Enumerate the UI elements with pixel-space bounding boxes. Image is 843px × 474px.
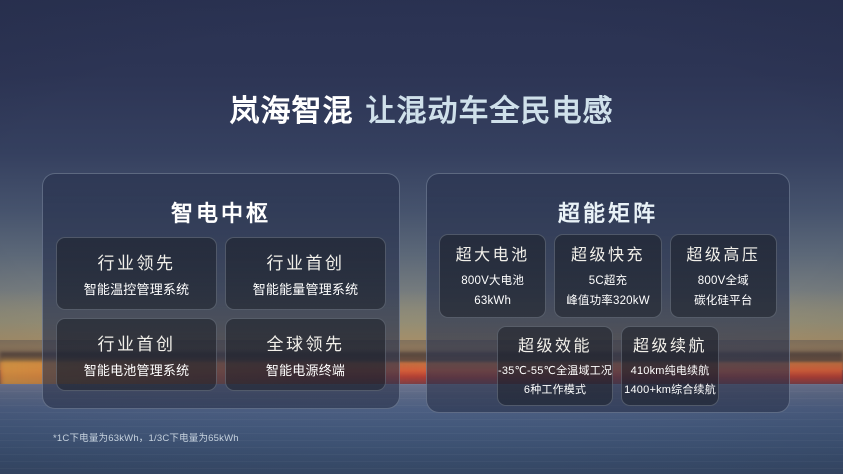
card-description-1: 800V大电池 [461,271,524,291]
card-super-range[interactable]: 超级续航 410km纯电续航 1400+km综合续航 [621,326,719,406]
card-description: 智能温控管理系统 [84,279,190,298]
card-super-efficiency[interactable]: 超级效能 -35℃-55℃全温域工况 6种工作模式 [497,326,613,406]
panel-right-card-grid-bottom: 超级效能 -35℃-55℃全温域工况 6种工作模式 超级续航 410km纯电续航… [497,326,719,406]
card-heading: 超大电池 [456,241,530,265]
page-title-main: 岚海智混 [230,95,354,128]
card-global-leading-power-terminal[interactable]: 全球领先 智能电源终端 [225,318,386,391]
card-description-1: 5C超充 [589,271,628,291]
card-heading: 行业首创 [267,249,345,274]
page-title: 岚海智混让混动车全民电感 [0,86,843,130]
card-heading: 超级高压 [686,241,760,265]
card-description: 智能能量管理系统 [253,279,359,298]
card-fast-charging[interactable]: 超级快充 5C超充 峰值功率320kW [554,234,661,318]
card-big-battery[interactable]: 超大电池 800V大电池 63kWh [439,234,546,318]
page-title-sub: 让混动车全民电感 [366,95,614,128]
card-industry-first-battery[interactable]: 行业首创 智能电池管理系统 [56,318,217,391]
card-industry-first-energy[interactable]: 行业首创 智能能量管理系统 [225,237,386,310]
card-heading: 行业首创 [98,330,176,355]
card-description-2: 6种工作模式 [524,381,586,400]
panel-right-title: 超能矩阵 [427,196,789,228]
card-industry-leading-thermal[interactable]: 行业领先 智能温控管理系统 [56,237,217,310]
panel-left-card-grid: 行业领先 智能温控管理系统 行业首创 智能能量管理系统 行业首创 智能电池管理系… [56,237,386,391]
card-description-2: 63kWh [474,291,511,311]
card-description-2: 峰值功率320kW [566,291,650,311]
panel-right-card-grid-top: 超大电池 800V大电池 63kWh 超级快充 5C超充 峰值功率320kW 超… [439,234,777,318]
panel-chao-neng-ju-zhen: 超能矩阵 超大电池 800V大电池 63kWh 超级快充 5C超充 峰值功率32… [426,173,790,413]
card-description: 智能电池管理系统 [84,360,190,379]
card-heading: 超级续航 [633,332,707,356]
card-description-2: 1400+km综合续航 [624,381,716,400]
card-description-1: 800V全域 [698,271,749,291]
card-description: 智能电源终端 [266,360,345,379]
card-heading: 全球领先 [267,330,345,355]
card-heading: 行业领先 [98,249,176,274]
card-heading: 超级效能 [518,332,592,356]
panel-left-title: 智电中枢 [43,196,399,228]
footnote: *1C下电量为63kWh，1/3C下电量为65kWh [53,430,239,444]
panel-zhi-dian-zhong-shu: 智电中枢 行业领先 智能温控管理系统 行业首创 智能能量管理系统 行业首创 智能… [42,173,400,409]
card-description-1: 410km纯电续航 [631,362,710,381]
card-high-voltage[interactable]: 超级高压 800V全域 碳化硅平台 [670,234,777,318]
card-heading: 超级快充 [571,241,645,265]
card-description-1: -35℃-55℃全温域工况 [498,362,612,381]
card-description-2: 碳化硅平台 [694,291,753,311]
